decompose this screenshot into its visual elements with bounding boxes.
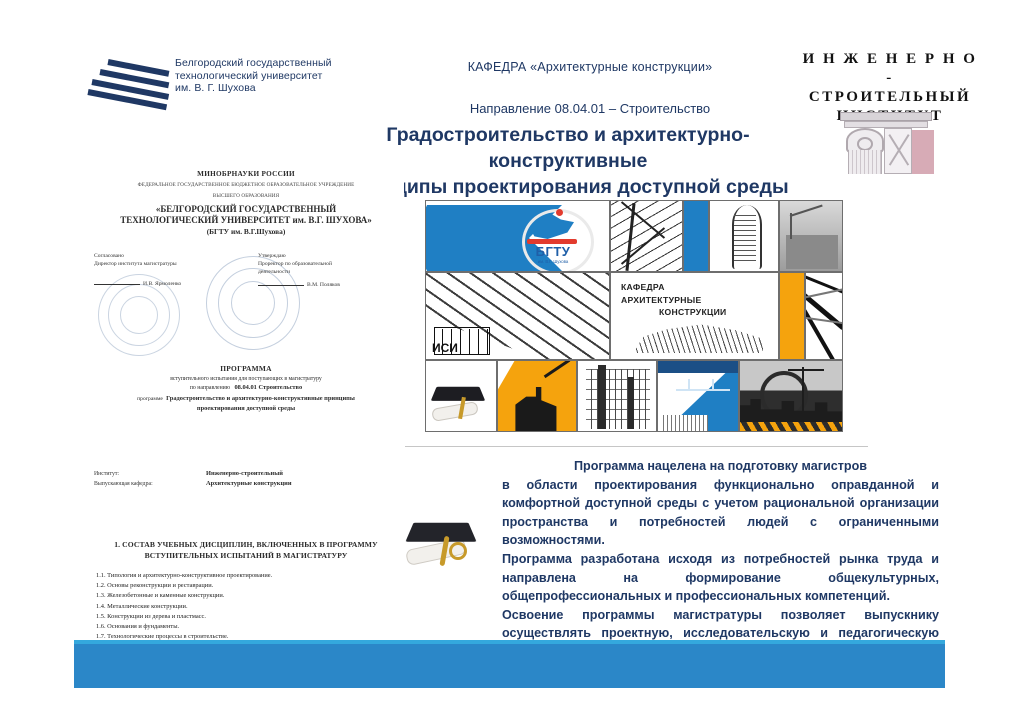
- collage-cell-blue-bar: [683, 200, 709, 272]
- doc-chair-value: Архитектурные конструкции: [206, 479, 292, 489]
- collage-cell-crack-sketch: [610, 200, 683, 272]
- institute-logo-line-2: СТРОИТЕЛЬНЫЙ: [800, 88, 980, 107]
- list-item: 1.7. Технологические процессы в строител…: [96, 632, 404, 640]
- doc-approval-right: Утверждаю Проректор по образовательной д…: [258, 252, 340, 289]
- doc-program-title: ПРОГРАММА: [88, 364, 404, 373]
- slide-root: Белгородский государственный технологиче…: [0, 0, 1018, 720]
- collage-cell-blue-bridge: [657, 360, 739, 432]
- list-item: 1.2. Основы реконструкции и реставрации.: [96, 581, 404, 591]
- program-document-image: МИНОБРНАУКИ РОССИИ ФЕДЕРАЛЬНОЕ ГОСУДАРСТ…: [88, 160, 404, 640]
- department-collage-image: БГТУ им. В.Г. Шухова ИСИ КАФЕД: [425, 200, 843, 432]
- collage-cell-orange-crane: [497, 360, 577, 432]
- program-description-paragraph-1: в области проектирования функционально о…: [502, 476, 939, 550]
- collage-caption-line-2: АРХИТЕКТУРНЫЕ: [621, 294, 727, 307]
- doc-program-sub: вступительного испытания для поступающих…: [88, 376, 404, 382]
- collage-cell-caption-sketch: КАФЕДРА АРХИТЕКТУРНЫЕ КОНСТРУКЦИИ: [610, 272, 779, 360]
- doc-institute-labels: Институт: Выпускающая кафедра:: [94, 469, 153, 489]
- collage-cell-scaffold-photo: ИСИ: [425, 272, 610, 360]
- program-description: Программа нацелена на подготовку магистр…: [502, 457, 939, 662]
- collage-cell-radial-truss: [805, 272, 843, 360]
- university-name-line-1: Белгородский государственный: [175, 57, 335, 70]
- collage-cell-graduation-cap: [425, 360, 497, 432]
- collage-cell-bgtu-logo: БГТУ им. В.Г. Шухова: [425, 200, 610, 272]
- program-description-paragraph-2: Программа разработана исходя из потребно…: [502, 550, 939, 606]
- doc-institute-values: Инженерно-строительный Архитектурные кон…: [206, 469, 292, 489]
- doc-federal-line-2: ВЫСШЕГО ОБРАЗОВАНИЯ: [88, 193, 404, 200]
- collage-cell-tower-sketch: [709, 200, 779, 272]
- list-item: 1.3. Железобетонные и каменные конструкц…: [96, 591, 404, 601]
- doc-section-heading-2: ВСТУПИТЕЛЬНЫХ ИСПЫТАНИЙ В МАГИСТРАТУРУ: [88, 550, 404, 561]
- doc-institute-label: Институт:: [94, 469, 153, 479]
- footer-blue-bar: [74, 644, 945, 688]
- collage-caption-line-1: КАФЕДРА: [621, 281, 727, 294]
- university-name-line-2: технологический университет: [175, 70, 335, 83]
- doc-program-name-line-2: проектирования доступной среды: [88, 404, 404, 413]
- university-name: Белгородский государственный технологиче…: [175, 57, 335, 95]
- doc-institute-value: Инженерно-строительный: [206, 469, 292, 479]
- doc-university-short: (БГТУ им. В.Г.Шухова): [88, 227, 404, 236]
- doc-federal-line-1: ФЕДЕРАЛЬНОЕ ГОСУДАРСТВЕННОЕ БЮДЖЕТНОЕ ОБ…: [88, 182, 404, 189]
- doc-approval-left-word: Согласовано: [94, 252, 181, 260]
- list-item: 1.5. Конструкции из дерева и пластмасс.: [96, 612, 404, 622]
- department-line: КАФЕДРА «Архитектурные конструкции»: [400, 60, 780, 74]
- section-divider: [405, 446, 868, 447]
- collage-cell-construction-photo: [779, 200, 843, 272]
- doc-approval-left: Согласовано Директор института магистрат…: [94, 252, 181, 288]
- doc-section-1: 1. СОСТАВ УЧЕБНЫХ ДИСЦИПЛИН, ВКЛЮЧЕННЫХ …: [88, 539, 404, 640]
- collage-cell-crane-city: [739, 360, 843, 432]
- bgtu-chevron-logo: [88, 55, 168, 103]
- list-item: 1.1. Типология и архитектурно-конструкти…: [96, 571, 404, 581]
- collage-caption-line-3: КОНСТРУКЦИИ: [621, 306, 727, 319]
- doc-program-direction-label: по направлению: [190, 385, 230, 391]
- collage-cell-industrial-sketch: [577, 360, 657, 432]
- doc-university-line-2: ТЕХНОЛОГИЧЕСКИЙ УНИВЕРСИТЕТ им. В.Г. ШУХ…: [88, 215, 404, 225]
- doc-discipline-list: 1.1. Типология и архитектурно-конструкти…: [88, 571, 404, 640]
- doc-approval-right-role-1: Проректор по образовательной: [258, 260, 340, 268]
- doc-program-label: программе: [137, 396, 163, 402]
- doc-section-heading-1: 1. СОСТАВ УЧЕБНЫХ ДИСЦИПЛИН, ВКЛЮЧЕННЫХ …: [88, 539, 404, 550]
- collage-bgtu-badge: БГТУ: [526, 244, 580, 259]
- graduation-cap-diploma-icon: [402, 512, 484, 574]
- doc-chair-label: Выпускающая кафедра:: [94, 479, 153, 489]
- university-name-line-3: им. В. Г. Шухова: [175, 82, 335, 95]
- list-item: 1.4. Металлические конструкции.: [96, 602, 404, 612]
- institute-logo-line-1: И Н Ж Е Н Е Р Н О -: [800, 50, 980, 88]
- doc-program-name-line-1: Градостроительство и архитектурно-констр…: [166, 395, 355, 402]
- doc-university-line-1: «БЕЛГОРОДСКИЙ ГОСУДАРСТВЕННЫЙ: [88, 204, 404, 214]
- list-item: 1.6. Основания и фундаменты.: [96, 622, 404, 632]
- doc-approval-right-word: Утверждаю: [258, 252, 340, 260]
- doc-approval-left-role: Директор института магистратуры: [94, 260, 181, 268]
- doc-approval-right-name: В.М. Поляков: [307, 282, 340, 288]
- collage-bgtu-badge-sub: им. В.Г. Шухова: [526, 259, 580, 264]
- doc-program-block: ПРОГРАММА вступительного испытания для п…: [88, 364, 404, 413]
- direction-line: Направление 08.04.01 – Строительство: [400, 101, 780, 116]
- footer-highlight-strip: [74, 640, 945, 644]
- doc-program-direction-value: 08.04.01 Строительство: [234, 384, 302, 391]
- doc-ministry: МИНОБРНАУКИ РОССИИ: [88, 170, 404, 178]
- collage-caption: КАФЕДРА АРХИТЕКТУРНЫЕ КОНСТРУКЦИИ: [621, 281, 727, 319]
- doc-approval-block: Согласовано Директор института магистрат…: [88, 252, 404, 348]
- doc-approval-left-name: И.В. Ярмоленко: [143, 281, 181, 287]
- ionic-column-icon: [840, 112, 940, 174]
- institute-logo: И Н Ж Е Н Е Р Н О - СТРОИТЕЛЬНЫЙ ИНСТИТУ…: [800, 50, 980, 175]
- doc-institute-block: Институт: Выпускающая кафедра: Инженерно…: [88, 469, 404, 495]
- program-description-lead: Программа нацелена на подготовку магистр…: [502, 457, 939, 476]
- doc-program-name: программе Градостроительство и архитекту…: [88, 394, 404, 413]
- doc-approval-right-role-2: деятельности: [258, 268, 340, 276]
- collage-cell-orange-block: [779, 272, 805, 360]
- doc-program-direction: по направлению 08.04.01 Строительство: [88, 384, 404, 391]
